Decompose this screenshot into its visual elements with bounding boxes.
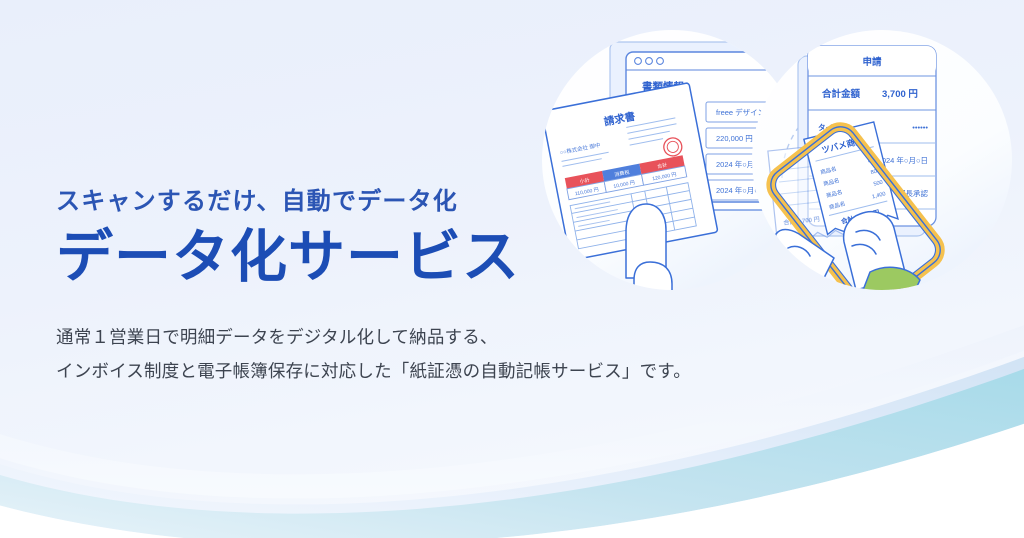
window-dot-3 <box>657 58 664 65</box>
hand-holding-invoice <box>626 204 672 302</box>
panel-row-value-1: 2024 年○月○日 <box>878 155 928 165</box>
hero-description-line-2: インボイス制度と電子帳簿保存に対応した「紙証憑の自動記帳サービス」です。 <box>56 354 696 388</box>
illustration-right-scene: 申請 合計金額 3,700 円 タイトル 申請日 申請経路 <box>752 30 1012 308</box>
panel-title: 申請 <box>862 56 882 68</box>
panel-amount-label: 合計金額 <box>822 88 861 100</box>
panel-amount-value: 3,700 円 <box>882 89 918 100</box>
sleeve-cuff <box>860 267 920 306</box>
panel-row-value-0: •••••• <box>912 123 928 132</box>
hero-illustration: 書類情報 取引先 合計金額 取引日 支払期日 <box>530 18 1024 308</box>
field-value-1: 220,000 円 <box>716 134 753 143</box>
window-dot-2 <box>646 58 653 65</box>
window-dot-1 <box>635 58 642 65</box>
hero-description-line-1: 通常１営業日で明細データをデジタル化して納品する、 <box>56 320 696 354</box>
hero-banner: スキャンするだけ、自動でデータ化 データ化サービス 通常１営業日で明細データをデ… <box>0 0 1024 538</box>
sleeve-cuff <box>640 291 682 308</box>
hero-description: 通常１営業日で明細データをデジタル化して納品する、 インボイス制度と電子帳簿保存… <box>56 320 696 388</box>
